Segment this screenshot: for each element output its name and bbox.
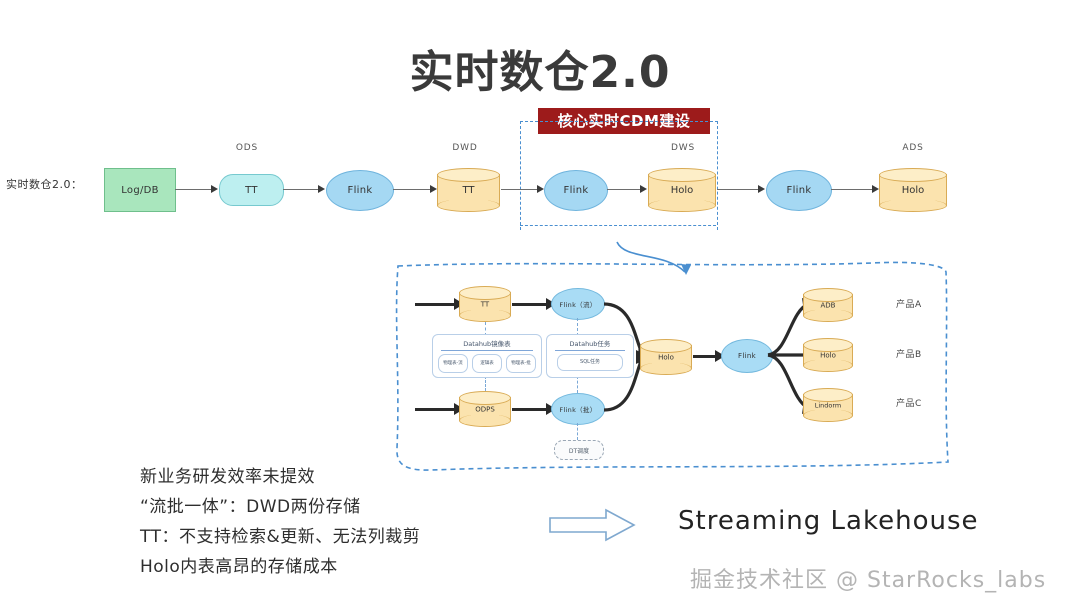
cylinder-bottom <box>803 359 853 372</box>
arrow-connector <box>607 189 641 190</box>
node-flink-batch-label: Flink（批） <box>552 404 604 414</box>
chip-physical-stream[interactable]: 物理表-流 <box>438 354 468 373</box>
node-ads-holo-label: Holo <box>879 185 947 196</box>
node-log-db[interactable]: Log/DB <box>104 168 176 212</box>
stage-label-dwd: DWD <box>440 143 490 153</box>
cylinder-top <box>640 339 692 353</box>
cylinder-bottom <box>437 199 500 212</box>
stage-label-ads: ADS <box>888 143 938 153</box>
node-flink-1-label: Flink <box>327 185 393 196</box>
arrow-head-icon <box>758 185 765 193</box>
scheduler-link-line <box>577 423 578 440</box>
stage-label-ods: ODS <box>222 143 272 153</box>
thick-arrow-connector <box>512 408 547 411</box>
arrow-head-icon <box>211 185 218 193</box>
product-label-c: 产品C <box>896 396 922 409</box>
right-arrow-icon <box>548 508 638 542</box>
node-flink-stream[interactable]: Flink（流） <box>551 288 605 320</box>
cylinder-bottom <box>648 199 716 212</box>
arrow-head-icon <box>430 185 437 193</box>
node-out-adb[interactable]: ADB <box>803 288 853 322</box>
bullet-list: 新业务研发效率未提效 “流批一体”：DWD两份存储 TT：不支持检索&更新、无法… <box>140 462 560 582</box>
node-flink-3-label: Flink <box>767 185 831 196</box>
product-label-a: 产品A <box>896 297 922 310</box>
node-detail-tt[interactable]: TT <box>459 286 511 322</box>
scheduler-node[interactable]: DT调度 <box>554 440 604 460</box>
bullet-item: 新业务研发效率未提效 <box>140 462 560 492</box>
node-detail-holo[interactable]: Holo <box>640 339 692 375</box>
node-dwd-tt-label: TT <box>437 185 500 196</box>
cylinder-bottom <box>640 362 692 375</box>
arrow-head-icon <box>640 185 647 193</box>
cylinder-top <box>879 168 947 182</box>
cylinder-top <box>459 391 511 405</box>
node-flink-2[interactable]: Flink <box>544 170 608 211</box>
thick-arrow-connector <box>693 355 716 358</box>
node-flink-serving-label: Flink <box>722 352 772 360</box>
arrow-connector <box>501 189 538 190</box>
arrow-connector <box>831 189 873 190</box>
node-log-db-label: Log/DB <box>105 185 175 196</box>
node-detail-tt-label: TT <box>459 300 511 308</box>
product-label-b: 产品B <box>896 347 922 360</box>
stage-label-dws: DWS <box>658 143 708 153</box>
chip-physical-batch[interactable]: 物理表-批 <box>506 354 536 373</box>
cylinder-top <box>648 168 716 182</box>
bullet-item: TT：不支持检索&更新、无法列裁剪 <box>140 522 560 552</box>
node-flink-3[interactable]: Flink <box>766 170 832 211</box>
node-out-lindorm-label: Lindorm <box>803 401 853 409</box>
node-dws-holo[interactable]: Holo <box>648 168 716 212</box>
arrow-head-icon <box>537 185 544 193</box>
node-out-adb-label: ADB <box>803 301 853 309</box>
cylinder-bottom <box>459 414 511 427</box>
panel-datahub-mirror-title: Datahub镜像表 <box>433 335 541 348</box>
node-detail-odps[interactable]: ODPS <box>459 391 511 427</box>
bullet-item: Holo内表高昂的存储成本 <box>140 552 560 582</box>
lakehouse-title: Streaming Lakehouse <box>678 506 979 536</box>
panel-link-line <box>485 376 486 391</box>
node-dwd-tt[interactable]: TT <box>437 168 500 212</box>
node-ods-tt-label: TT <box>220 185 283 196</box>
watermark: 掘金技术社区 @ StarRocks_labs <box>690 562 1046 594</box>
node-flink-1[interactable]: Flink <box>326 170 394 211</box>
node-ods-tt[interactable]: TT <box>219 174 284 206</box>
cylinder-bottom <box>803 409 853 422</box>
node-detail-holo-label: Holo <box>640 353 692 361</box>
thick-arrow-connector <box>415 408 455 411</box>
arrow-head-icon <box>318 185 325 193</box>
panel-datahub-mirror: Datahub镜像表 物理表-流 逻辑表 物理表-批 <box>432 334 542 378</box>
cylinder-top <box>803 288 853 302</box>
panel-link-line <box>577 376 578 393</box>
thick-arrow-connector <box>512 303 547 306</box>
node-dws-holo-label: Holo <box>648 185 716 196</box>
page-title: 实时数仓2.0 <box>0 36 1080 100</box>
arrow-connector <box>393 189 431 190</box>
cylinder-top <box>803 388 853 402</box>
cylinder-bottom <box>879 199 947 212</box>
row-label: 实时数仓2.0： <box>6 176 83 192</box>
cylinder-top <box>459 286 511 300</box>
cylinder-bottom <box>459 309 511 322</box>
cylinder-bottom <box>803 309 853 322</box>
cylinder-top <box>803 338 853 352</box>
node-flink-2-label: Flink <box>545 185 607 196</box>
panel-divider <box>441 350 533 351</box>
node-flink-stream-label: Flink（流） <box>552 299 604 309</box>
arrow-connector <box>283 189 319 190</box>
node-detail-odps-label: ODPS <box>459 405 511 413</box>
arrow-head-icon <box>872 185 879 193</box>
arrow-connector <box>175 189 212 190</box>
thick-arrow-connector <box>415 303 455 306</box>
cylinder-top <box>437 168 500 182</box>
node-ads-holo[interactable]: Holo <box>879 168 947 212</box>
node-out-holo[interactable]: Holo <box>803 338 853 372</box>
node-out-lindorm[interactable]: Lindorm <box>803 388 853 422</box>
chip-logical-table[interactable]: 逻辑表 <box>472 354 502 373</box>
bullet-item: “流批一体”：DWD两份存储 <box>140 492 560 522</box>
arrow-connector <box>717 189 759 190</box>
node-out-holo-label: Holo <box>803 351 853 359</box>
node-flink-batch[interactable]: Flink（批） <box>551 393 605 425</box>
